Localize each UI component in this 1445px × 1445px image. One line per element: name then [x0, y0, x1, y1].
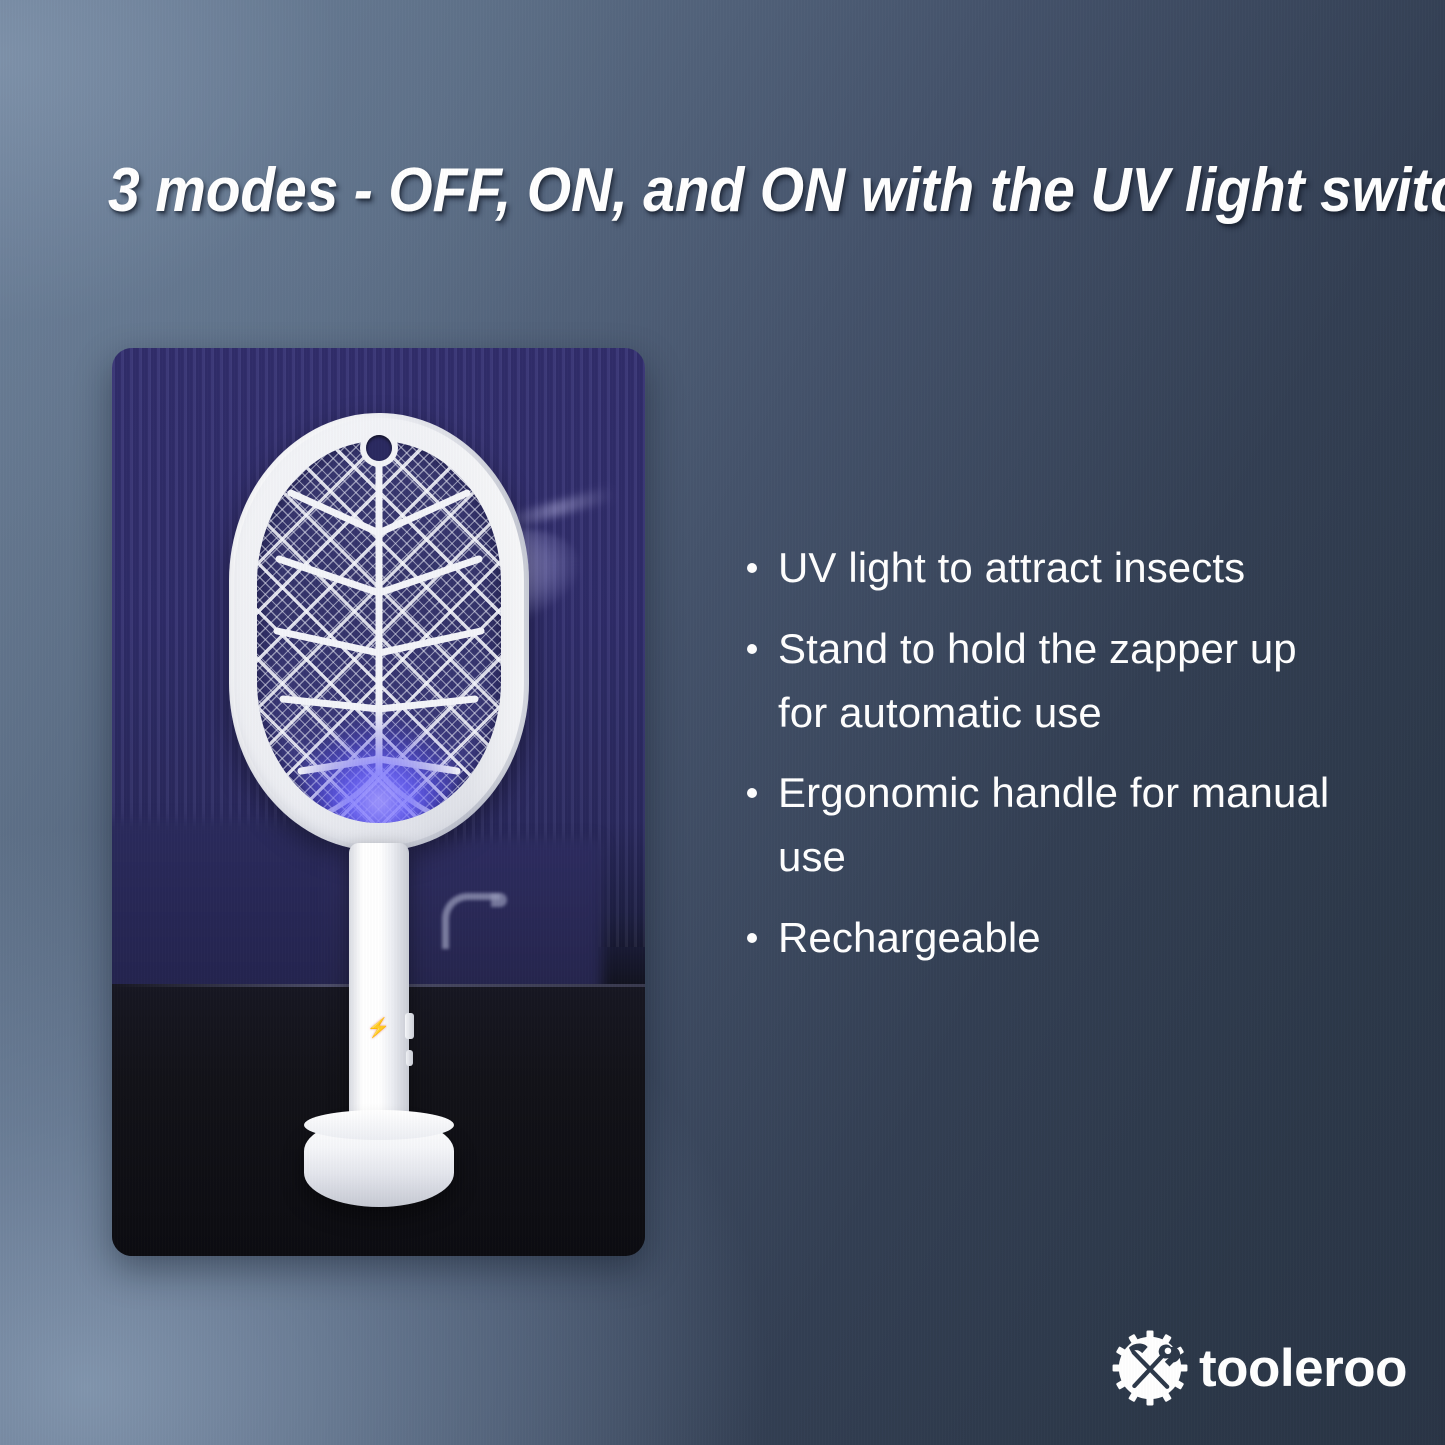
product-photo-card: ⚡ — [112, 348, 645, 1256]
racket-head — [229, 413, 529, 851]
uv-mode-button — [406, 1050, 413, 1066]
list-item: Stand to hold the zapper up for automati… — [742, 617, 1332, 745]
mosquito-zapper-product: ⚡ — [112, 348, 645, 1256]
charging-base-top — [304, 1110, 454, 1140]
product-handle: ⚡ — [349, 843, 409, 1131]
charging-base — [304, 1117, 454, 1207]
brand-wordmark: tooleroo — [1199, 1342, 1407, 1395]
feature-list: UV light to attract insects Stand to hol… — [742, 536, 1332, 987]
gear-hammer-wrench-icon — [1111, 1329, 1189, 1407]
racket-mesh — [257, 441, 501, 823]
list-item: Rechargeable — [742, 906, 1332, 970]
poster-canvas: 3 modes - OFF, ON, and ON with the UV li… — [0, 0, 1445, 1445]
hanging-hole — [366, 435, 392, 461]
list-item: Ergonomic handle for manual use — [742, 761, 1332, 889]
brand-logo: tooleroo — [1111, 1329, 1407, 1407]
power-button — [405, 1013, 414, 1039]
lightning-bolt-icon: ⚡ — [367, 1019, 391, 1038]
list-item: UV light to attract insects — [742, 536, 1332, 600]
uv-light-glow — [304, 696, 454, 823]
page-title: 3 modes - OFF, ON, and ON with the UV li… — [108, 158, 1249, 225]
